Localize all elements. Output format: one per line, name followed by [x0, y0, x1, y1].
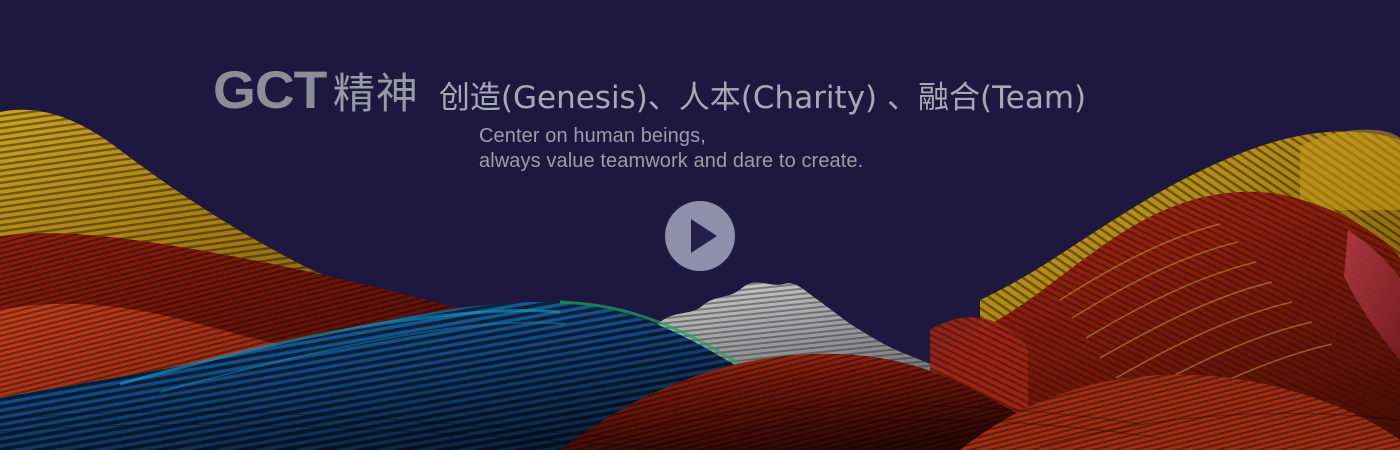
play-video-button[interactable]	[664, 200, 736, 272]
hero-banner: GCT 精神 创造(Genesis)、人本(Charity) 、融合(Team)…	[0, 0, 1400, 450]
play-icon[interactable]	[664, 200, 736, 272]
